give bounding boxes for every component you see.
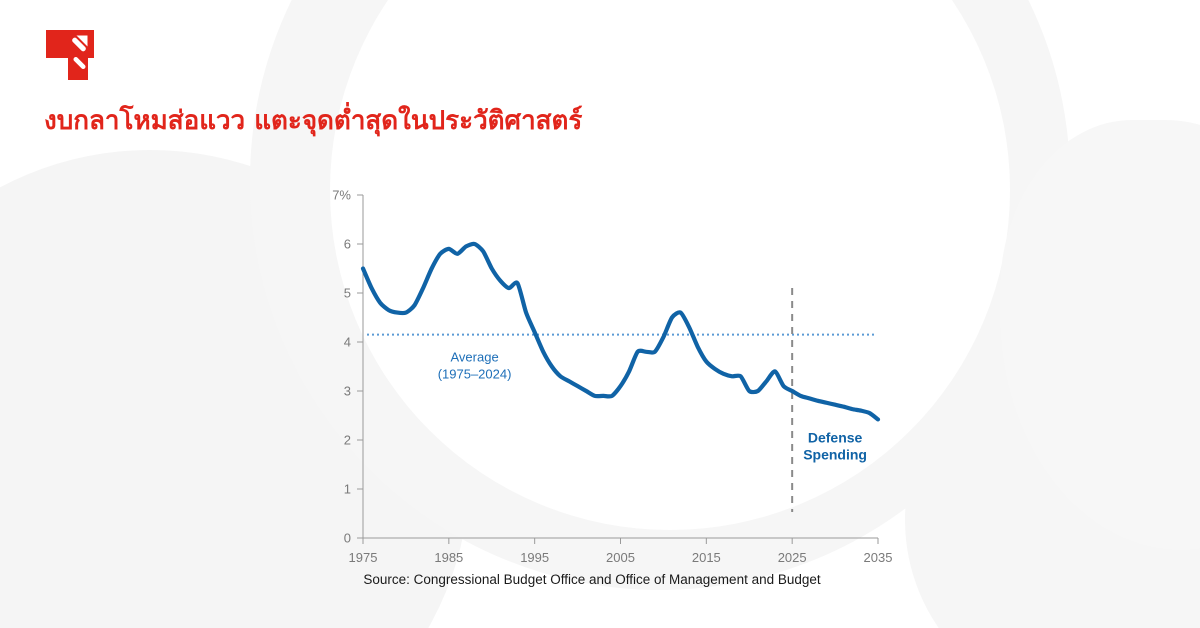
x-tick-label: 2005 xyxy=(606,550,635,565)
source-note: Source: Congressional Budget Office and … xyxy=(363,572,821,587)
infographic-page: งบกลาโหมส่อแวว แตะจุดต่ำสุดในประวัติศาสต… xyxy=(0,0,1200,628)
x-tick-label: 2015 xyxy=(692,550,721,565)
x-axis: 1975198519952005201520252035 xyxy=(349,538,893,565)
x-tick-label: 1975 xyxy=(349,550,378,565)
y-tick-label: 0 xyxy=(344,531,351,546)
y-tick-label: 1 xyxy=(344,482,351,497)
y-axis: 01234567% xyxy=(332,188,363,546)
x-tick-label: 1995 xyxy=(520,550,549,565)
average-annotation-line2: (1975–2024) xyxy=(438,367,512,382)
y-tick-label: 5 xyxy=(344,286,351,301)
defense-spending-series xyxy=(363,244,878,420)
series-annotation-line2: Spending xyxy=(803,446,867,462)
page-title: งบกลาโหมส่อแวว แตะจุดต่ำสุดในประวัติศาสต… xyxy=(44,100,582,141)
average-annotation-line1: Average xyxy=(450,350,498,365)
defense-spending-line-chart: 01234567% 1975198519952005201520252035 A… xyxy=(0,0,1200,628)
x-tick-label: 1985 xyxy=(434,550,463,565)
y-tick-label: 6 xyxy=(344,237,351,252)
brand-logo[interactable] xyxy=(46,30,94,80)
y-tick-label: 2 xyxy=(344,433,351,448)
chart-container: 01234567% 1975198519952005201520252035 A… xyxy=(0,0,1200,628)
x-tick-label: 2035 xyxy=(864,550,893,565)
y-tick-label: 4 xyxy=(344,335,351,350)
series-annotation-line1: Defense xyxy=(808,429,863,445)
x-tick-label: 2025 xyxy=(778,550,807,565)
series-annotation: Defense Spending xyxy=(803,429,867,462)
y-tick-label: 7% xyxy=(332,188,351,203)
newspaper-folded-logo-icon xyxy=(46,30,94,80)
y-tick-label: 3 xyxy=(344,384,351,399)
average-annotation: Average (1975–2024) xyxy=(438,350,512,382)
